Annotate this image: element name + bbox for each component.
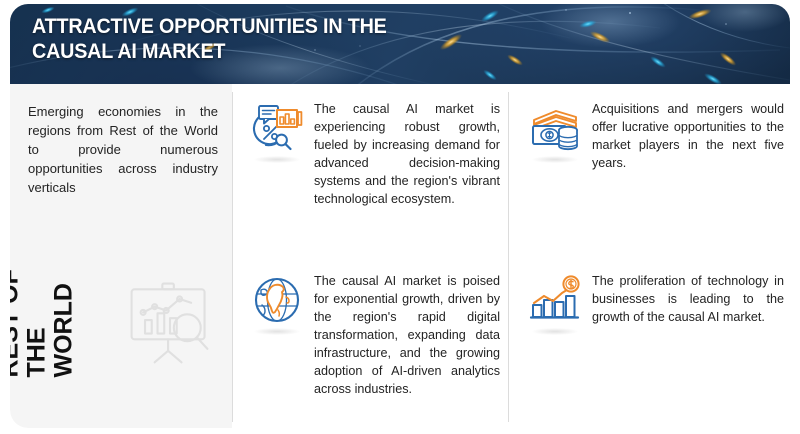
presentation-chart-search-icon [122, 274, 218, 370]
divider-sidebar [232, 92, 233, 422]
globe-africa-icon [248, 272, 306, 330]
page-title: ATTRACTIVE OPPORTUNITIES IN THE CAUSAL A… [32, 14, 521, 64]
icon-shadow [254, 328, 300, 335]
analytics-insight-icon [248, 100, 306, 158]
card-acquisitions-mergers: Acquisitions and mergers would offer luc… [526, 100, 784, 172]
bar-chart-dollar-growth-icon [526, 272, 584, 330]
icon-shadow [532, 328, 578, 335]
icon-shadow [532, 156, 578, 163]
divider-columns [508, 92, 509, 422]
header-banner: ATTRACTIVE OPPORTUNITIES IN THE CAUSAL A… [10, 4, 790, 84]
content-panel: Emerging economies in the regions from R… [10, 84, 790, 428]
infographic-root: ATTRACTIVE OPPORTUNITIES IN THE CAUSAL A… [0, 0, 800, 434]
money-cash-coins-icon [526, 100, 584, 158]
card-text: The causal AI market is poised for expon… [314, 272, 500, 398]
card-market-growth: The causal AI market is experiencing rob… [248, 100, 500, 208]
card-text: Acquisitions and mergers would offer luc… [592, 100, 784, 172]
card-text: The proliferation of technology in busin… [592, 272, 784, 326]
card-technology-proliferation: The proliferation of technology in busin… [526, 272, 784, 330]
card-exponential-growth: The causal AI market is poised for expon… [248, 272, 500, 398]
sidebar: Emerging economies in the regions from R… [10, 84, 232, 428]
icon-shadow [254, 156, 300, 163]
sidebar-region-label: REST OF THE WORLD [10, 208, 78, 378]
card-text: The causal AI market is experiencing rob… [314, 100, 500, 208]
sidebar-description: Emerging economies in the regions from R… [28, 102, 218, 197]
